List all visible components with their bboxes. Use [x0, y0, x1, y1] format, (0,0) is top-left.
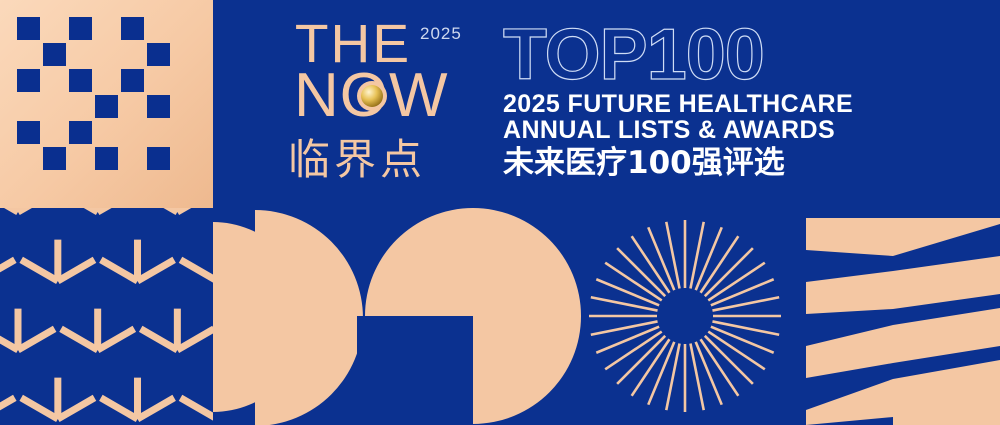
starburst-rays-icon — [585, 208, 785, 425]
logo-year-superscript: 2025 — [420, 24, 462, 44]
diagonal-stripes-pattern — [786, 208, 1000, 425]
half-disk-large — [255, 210, 363, 425]
checker-cell — [147, 95, 170, 118]
hex-line — [58, 260, 95, 281]
headline-english-line-1: 2025 FUTURE HEALTHCARE — [503, 91, 963, 117]
notch-cutout — [357, 316, 473, 425]
starburst-ray — [705, 336, 753, 384]
checker-cell — [17, 17, 40, 40]
starburst-ray — [617, 336, 665, 384]
hex-line — [101, 398, 138, 419]
hex-line — [61, 329, 98, 350]
hex-line — [18, 208, 55, 212]
gold-sphere-icon — [358, 82, 386, 110]
checker-cell — [17, 69, 40, 92]
checker-cell — [147, 43, 170, 66]
hex-line — [0, 260, 15, 281]
starburst-ray — [705, 248, 753, 296]
hex-line — [141, 329, 178, 350]
headline-top100: TOP100 — [503, 22, 963, 88]
hex-line — [138, 260, 175, 281]
hex-line — [58, 398, 95, 419]
checker-cell — [69, 17, 92, 40]
checkerboard-grid — [17, 17, 197, 197]
hex-line — [101, 260, 138, 281]
logo-line-now: NOW — [288, 70, 488, 132]
hex-line — [0, 208, 18, 212]
hex-line — [138, 398, 175, 419]
hex-line — [61, 208, 98, 212]
hex-line — [18, 329, 55, 350]
headline-block: TOP100 2025 FUTURE HEALTHCARE ANNUAL LIS… — [503, 22, 963, 181]
checker-cell — [95, 147, 118, 170]
headline-english-line-2: ANNUAL LISTS & AWARDS — [503, 117, 963, 143]
starburst-ray — [617, 248, 665, 296]
hexagon-lattice-pattern — [0, 208, 213, 425]
half-disk-group — [205, 208, 585, 425]
event-logo: THE 2025 NOW 临界点 — [288, 14, 488, 194]
hex-line — [0, 398, 15, 419]
hex-line — [141, 208, 178, 212]
checker-cell — [121, 17, 144, 40]
checker-cell — [121, 69, 144, 92]
stripe-band — [806, 218, 893, 256]
decorative-band — [0, 208, 1000, 425]
checkerboard-block — [0, 0, 213, 208]
hex-line — [98, 329, 135, 350]
checker-cell — [17, 121, 40, 144]
banner-root: THE 2025 NOW 临界点 TOP100 2025 FUTURE HEAL… — [0, 0, 1000, 425]
hex-line — [98, 208, 135, 212]
checker-cell — [43, 43, 66, 66]
hex-line — [21, 398, 58, 419]
checker-cell — [95, 95, 118, 118]
logo-chinese-name: 临界点 — [288, 138, 488, 182]
hex-line — [21, 260, 58, 281]
checker-cell — [69, 121, 92, 144]
checker-cell — [43, 147, 66, 170]
headline-chinese-line: 未来医疗100强评选 — [503, 145, 963, 181]
logo-chinese-row: 临界点 — [288, 138, 488, 182]
checker-cell — [69, 69, 92, 92]
checker-cell — [147, 147, 170, 170]
